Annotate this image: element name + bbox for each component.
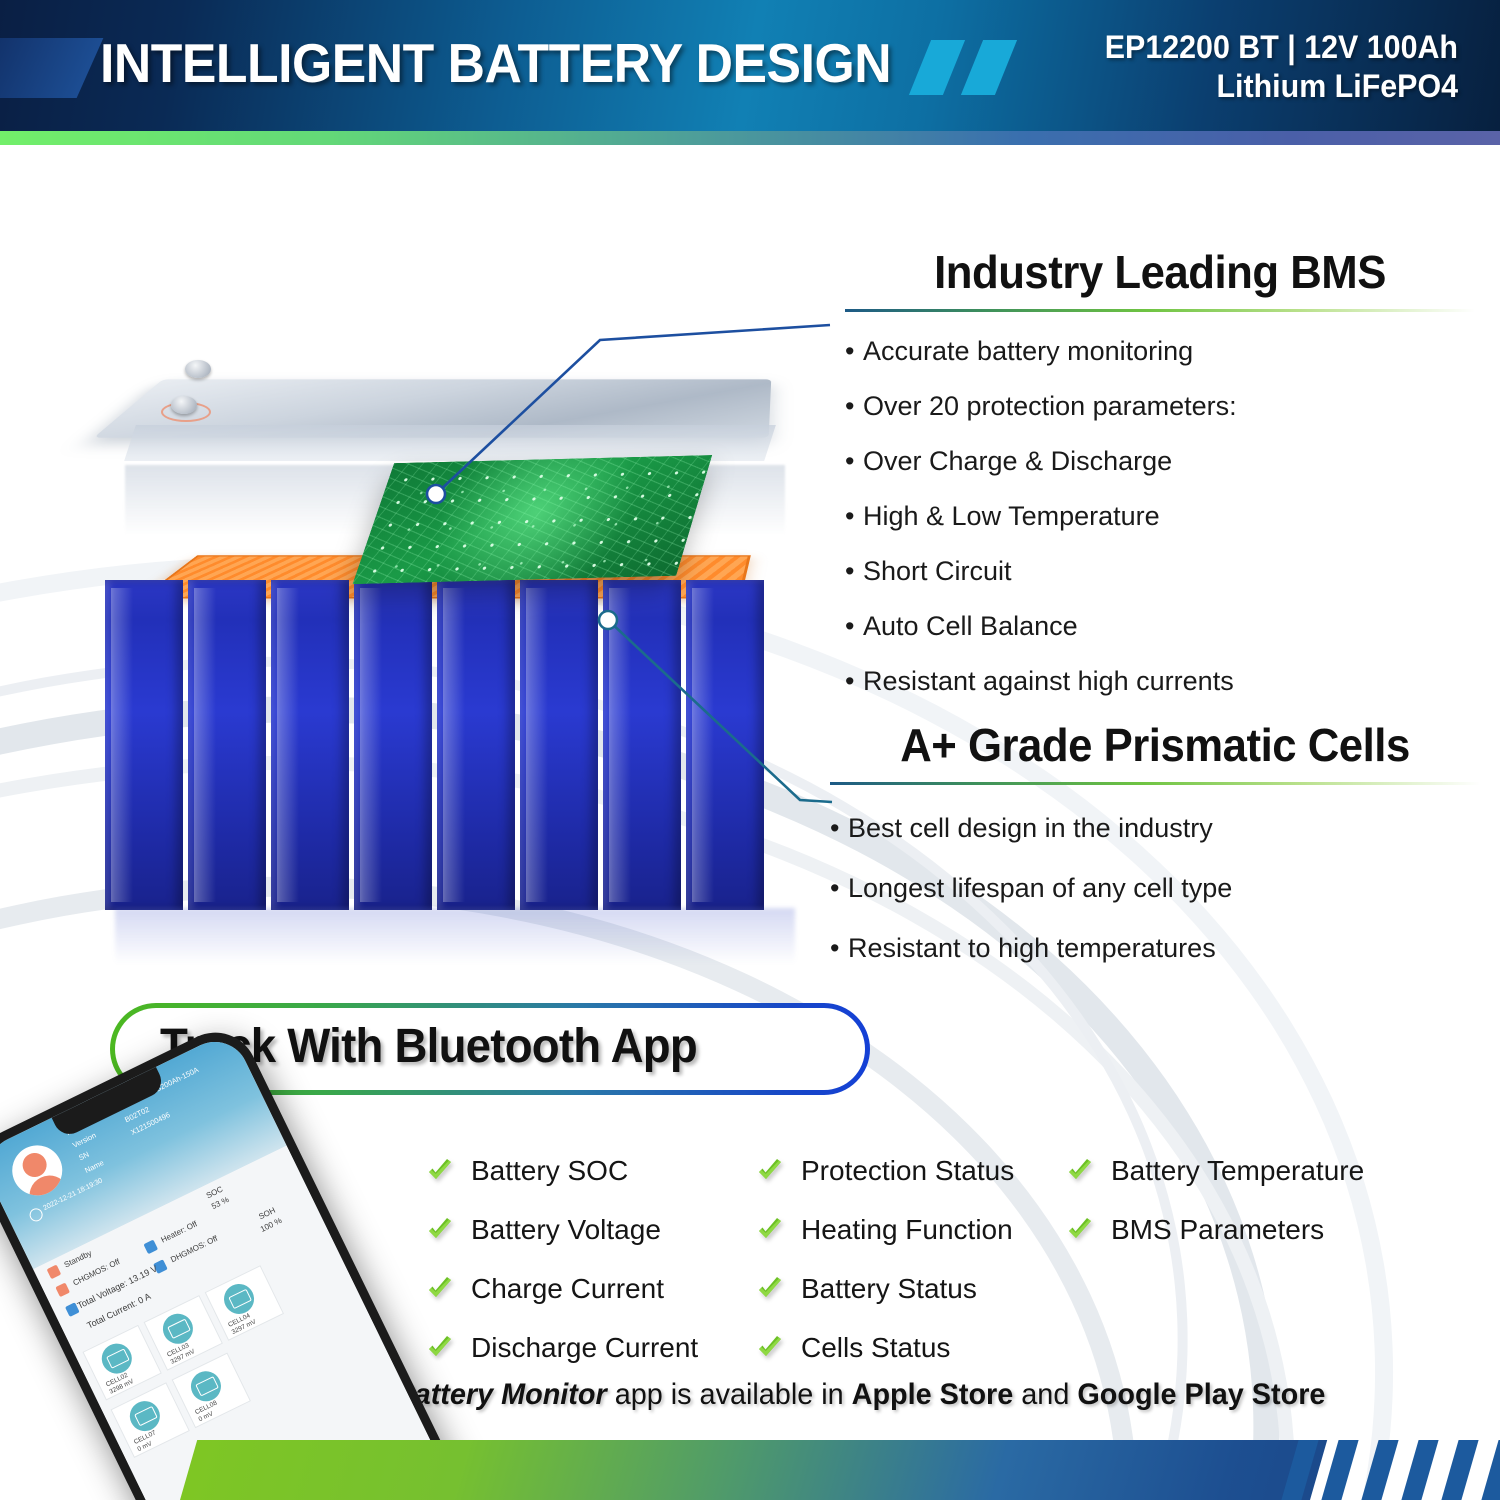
list-item: Battery Status (755, 1273, 1014, 1305)
product-chemistry-line: Lithium LiFePO4 (964, 67, 1458, 106)
list-item: •Auto Cell Balance (845, 613, 1475, 640)
bullet-text: Best cell design in the industry (848, 813, 1213, 843)
bms-bullet-list: •Accurate battery monitoring •Over 20 pr… (845, 338, 1475, 695)
footer-bar (0, 1440, 1500, 1500)
battery-cell-icon (186, 1366, 226, 1406)
cells-bullet-list: •Best cell design in the industry •Longe… (830, 815, 1480, 962)
feature-label: Cells Status (801, 1332, 950, 1364)
section-divider (845, 309, 1475, 312)
bullet-text: Auto Cell Balance (863, 611, 1078, 641)
app-heater: Heater: Off (160, 1219, 199, 1244)
check-icon (755, 1156, 785, 1186)
app-label-name: Name (83, 1158, 105, 1175)
battery-cell-icon (219, 1279, 259, 1319)
check-icon (755, 1333, 785, 1363)
list-item: •Accurate battery monitoring (845, 338, 1475, 365)
app-store-note: *LL Battery Monitor app is available in … (340, 1378, 1415, 1412)
battery-cell-icon (125, 1396, 165, 1436)
status-dot-icon (55, 1282, 70, 1297)
bullet-text: Accurate battery monitoring (863, 336, 1193, 366)
status-dot-icon (143, 1240, 158, 1255)
bullet-text: Short Circuit (863, 556, 1012, 586)
battery-cell-icon (158, 1309, 198, 1349)
list-item: •Resistant against high currents (845, 668, 1475, 695)
phone-screen: Mode Version SN Name LFP-BLE-04S200Ah-15… (0, 1031, 468, 1500)
list-item: Battery Temperature (1065, 1155, 1364, 1187)
product-spec: EP12200 BT | 12V 100Ah Lithium LiFePO4 (964, 28, 1458, 106)
feature-label: Battery Status (801, 1273, 977, 1305)
footer-gradient (180, 1440, 1327, 1500)
feature-label: Battery Voltage (471, 1214, 661, 1246)
section-bms: Industry Leading BMS •Accurate battery m… (845, 245, 1475, 723)
store-note-google: Google Play Store (1077, 1378, 1325, 1411)
feature-label: Protection Status (801, 1155, 1014, 1187)
list-item: •Resistant to high temperatures (830, 935, 1480, 962)
app-label-sn: SN (77, 1150, 90, 1163)
check-icon (1065, 1156, 1095, 1186)
section-title: A+ Grade Prismatic Cells (846, 718, 1464, 772)
product-model-line: EP12200 BT | 12V 100Ah (964, 28, 1458, 67)
list-item: BMS Parameters (1065, 1214, 1364, 1246)
list-item: •High & Low Temperature (845, 503, 1475, 530)
header-banner: INTELLIGENT BATTERY DESIGN EP12200 BT | … (0, 0, 1500, 131)
check-icon (1065, 1215, 1095, 1245)
list-item: •Longest lifespan of any cell type (830, 875, 1480, 902)
list-item: Heating Function (755, 1214, 1014, 1246)
store-note-middle: app is available in (607, 1378, 852, 1411)
infographic-page: INTELLIGENT BATTERY DESIGN EP12200 BT | … (0, 0, 1500, 1500)
battery-terminal-negative (171, 396, 197, 414)
battery-terminal-positive (185, 360, 211, 378)
check-icon (755, 1274, 785, 1304)
feature-label: Heating Function (801, 1214, 1013, 1246)
feature-label: Battery SOC (471, 1155, 628, 1187)
bullet-text: Longest lifespan of any cell type (848, 873, 1232, 903)
app-dhgmos: DHGMOS: Off (169, 1234, 219, 1264)
feature-label: BMS Parameters (1111, 1214, 1324, 1246)
list-item: •Short Circuit (845, 558, 1475, 585)
clock-icon (27, 1206, 44, 1223)
battery-illustration (75, 330, 865, 960)
feature-column-2: Protection Status Heating Function Batte… (755, 1155, 1014, 1391)
battery-reflection (115, 908, 795, 964)
feature-label: Battery Temperature (1111, 1155, 1364, 1187)
header-accent-parallelogram (0, 38, 103, 98)
list-item: •Over Charge & Discharge (845, 448, 1475, 475)
bullet-text: Resistant against high currents (863, 666, 1234, 696)
header-gradient-strip (0, 131, 1500, 145)
status-dot-icon (47, 1264, 62, 1279)
avatar (4, 1137, 71, 1204)
app-standby: Standby (63, 1249, 93, 1270)
list-item: Cells Status (755, 1332, 1014, 1364)
list-item: Protection Status (755, 1155, 1014, 1187)
section-divider (830, 782, 1480, 785)
prismatic-cell-stack (105, 580, 785, 910)
bullet-text: Over Charge & Discharge (863, 446, 1172, 476)
bullet-text: Over 20 protection parameters: (863, 391, 1237, 421)
list-item: •Over 20 protection parameters: (845, 393, 1475, 420)
store-note-apple: Apple Store (852, 1378, 1014, 1411)
page-title: INTELLIGENT BATTERY DESIGN (100, 31, 891, 95)
section-title: Industry Leading BMS (861, 245, 1460, 299)
footer-stripes (1250, 1440, 1500, 1500)
list-item: Battery SOC (425, 1155, 698, 1187)
check-icon (755, 1215, 785, 1245)
list-item: •Best cell design in the industry (830, 815, 1480, 842)
bms-circuit-board (353, 455, 713, 584)
store-note-and: and (1013, 1378, 1077, 1411)
battery-cell-icon (97, 1339, 137, 1379)
bullet-text: High & Low Temperature (863, 501, 1160, 531)
feature-column-3: Battery Temperature BMS Parameters (1065, 1155, 1364, 1273)
section-cells: A+ Grade Prismatic Cells •Best cell desi… (830, 718, 1480, 962)
bullet-text: Resistant to high temperatures (848, 933, 1216, 963)
